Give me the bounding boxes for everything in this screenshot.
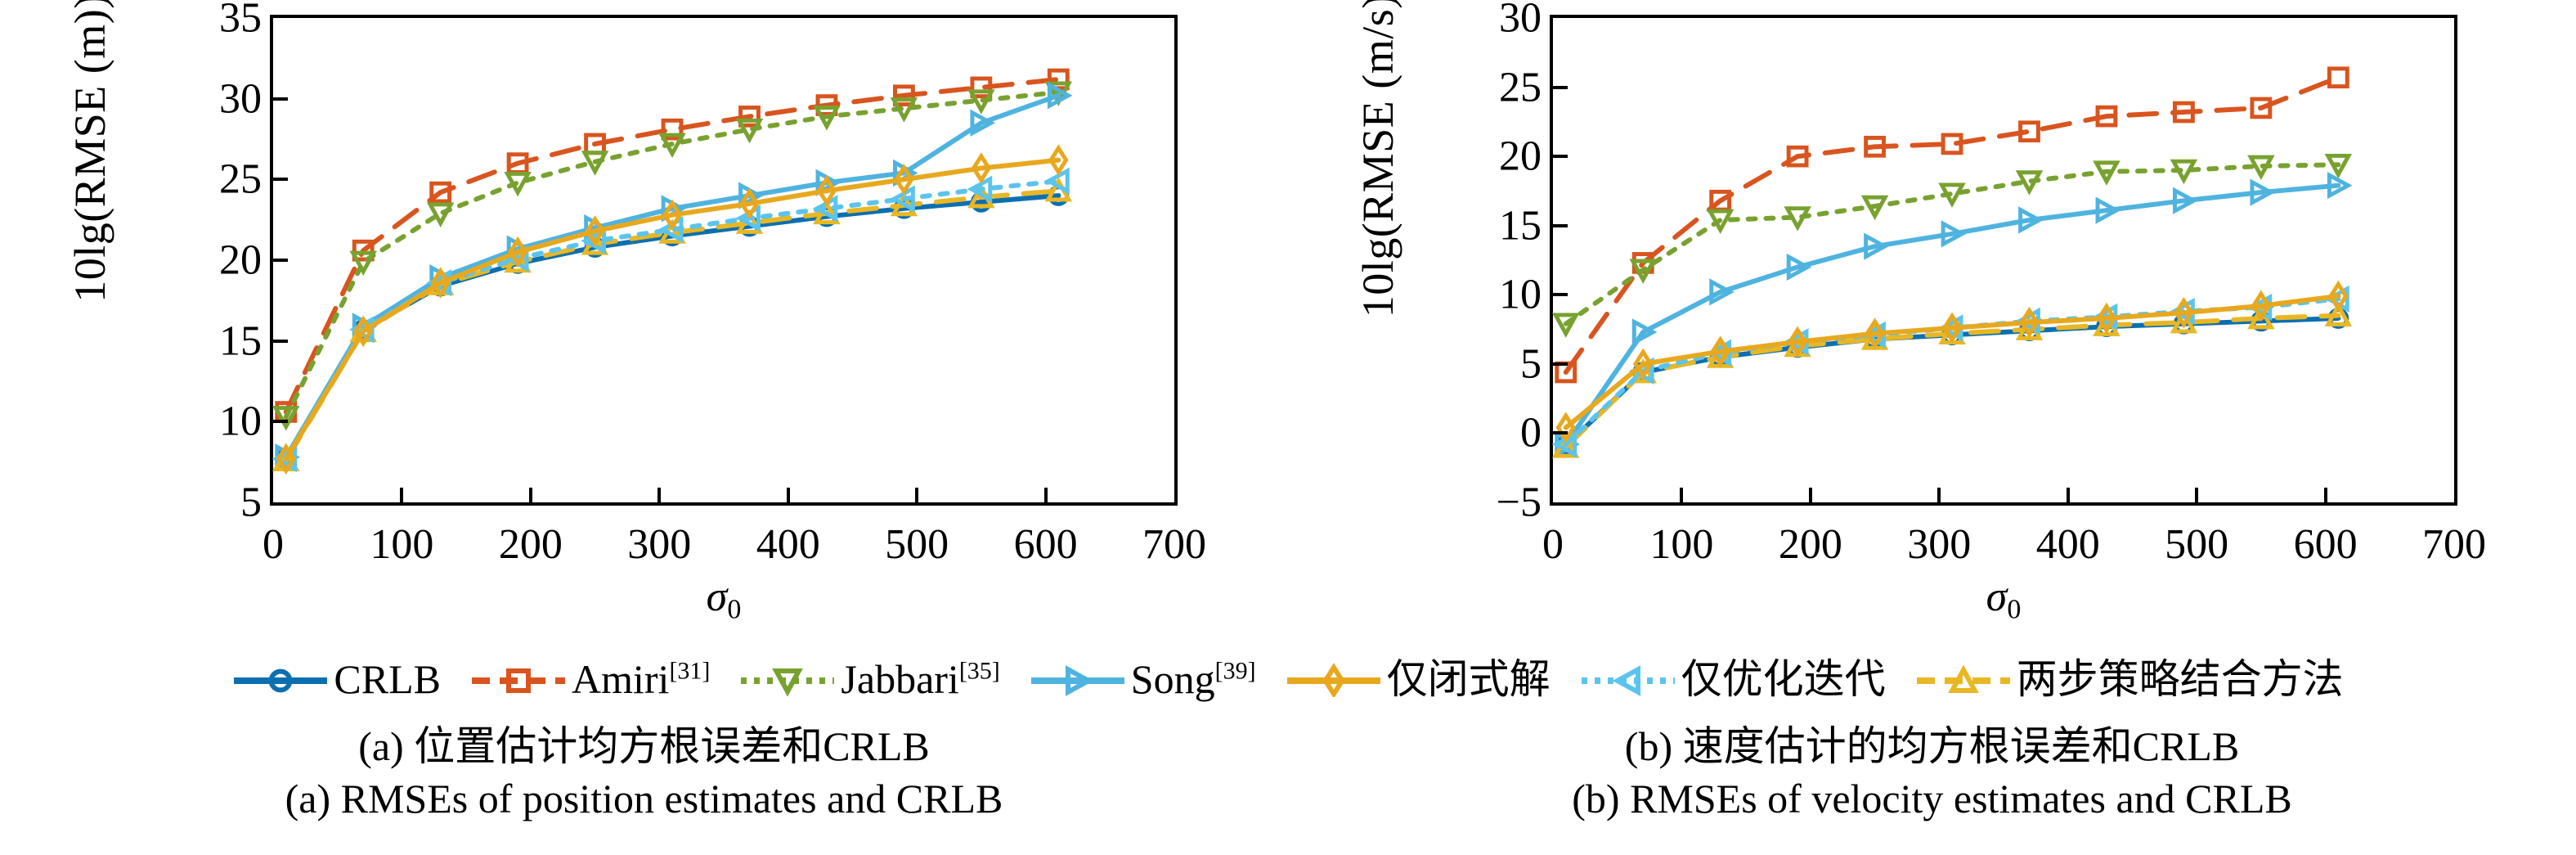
x-tick-label: 300 — [627, 520, 691, 569]
legend-label: Song[39] — [1131, 659, 1256, 700]
x-tick-label: 400 — [756, 520, 820, 569]
data-point-marker — [1788, 209, 1808, 227]
y-tick-label: 15 — [219, 317, 262, 365]
x-tick-label: 300 — [1907, 520, 1971, 569]
x-tick-mark — [787, 488, 790, 502]
x-tick-label: 200 — [1779, 520, 1842, 569]
legend-marker-triangle-left-icon — [1580, 661, 1676, 697]
y-tick-label: 30 — [219, 74, 262, 123]
y-tick-label: 10 — [219, 398, 262, 446]
data-point-marker — [2329, 69, 2347, 87]
data-point-marker — [739, 120, 760, 139]
x-tick-mark — [657, 488, 661, 502]
figure-root: 10lg(RMSE (m)) 5101520253035010020030040… — [0, 0, 2576, 855]
y-tick-label: 20 — [1499, 133, 1542, 181]
x-axis-label-a: σ0 — [707, 573, 742, 626]
legend-label: 两步策略结合方法 — [2017, 659, 2344, 700]
legend-item-1[interactable]: CRLB — [232, 659, 441, 700]
y-tick-mark — [273, 340, 288, 343]
data-point-marker — [894, 100, 914, 119]
panel-a: 10lg(RMSE (m)) 5101520253035010020030040… — [0, 0, 1288, 646]
data-series — [276, 83, 1069, 426]
legend-marker-triangle-down-icon — [739, 661, 836, 697]
y-tick-label: 5 — [1520, 340, 1542, 388]
legend-marker-diamond-icon — [1286, 661, 1382, 697]
x-tick-label: 0 — [1542, 520, 1564, 569]
y-tick-mark — [1553, 86, 1568, 89]
y-axis-label-a: 10lg(RMSE (m)) — [65, 0, 115, 320]
x-tick-mark — [2324, 488, 2327, 502]
legend-item-2[interactable]: Amiri[31] — [470, 659, 710, 700]
x-tick-label: 100 — [370, 520, 433, 569]
caption-a: (a) 位置估计均方根误差和CRLB (a) RMSEs of position… — [0, 720, 1288, 825]
legend-label: CRLB — [334, 659, 441, 700]
caption-b-en: (b) RMSEs of velocity estimates and CRLB — [1288, 772, 2576, 825]
y-tick-mark — [1553, 362, 1568, 366]
x-tick-mark — [1044, 488, 1048, 502]
y-tick-mark — [1553, 224, 1568, 227]
series-canvas-a — [273, 18, 1174, 502]
legend-item-4[interactable]: Song[39] — [1030, 659, 1256, 700]
data-series — [278, 148, 1066, 470]
legend-reference: [39] — [1215, 657, 1256, 684]
caption-b-cn: (b) 速度估计的均方根误差和CRLB — [1288, 720, 2576, 772]
y-tick-label: 5 — [240, 479, 262, 527]
legend-item-6[interactable]: 仅优化迭代 — [1580, 659, 1886, 700]
x-tick-mark — [915, 488, 918, 502]
x-tick-label: 700 — [1142, 520, 1206, 569]
x-tick-label: 200 — [499, 520, 563, 569]
y-tick-mark — [273, 259, 288, 262]
y-tick-mark — [1553, 293, 1568, 296]
legend-marker-triangle-up-icon — [1915, 661, 2012, 697]
plot-area-a: 51015202530350100200300400500600700 — [270, 15, 1178, 506]
y-tick-label: 20 — [219, 236, 262, 285]
x-tick-label: 700 — [2422, 520, 2486, 569]
x-tick-mark — [1937, 488, 1941, 502]
y-tick-label: 25 — [1499, 63, 1542, 111]
x-tick-mark — [2195, 488, 2198, 502]
y-tick-mark — [273, 97, 288, 101]
x-tick-label: 500 — [2165, 520, 2228, 569]
legend-label: 仅优化迭代 — [1681, 659, 1886, 700]
caption-a-en: (a) RMSEs of position estimates and CRLB — [0, 772, 1288, 825]
y-tick-label: 10 — [1499, 271, 1542, 319]
legend-marker-circle-icon — [232, 661, 329, 697]
y-axis-label-b: 10lg(RMSE (m/s)) — [1353, 0, 1403, 320]
y-tick-label: 15 — [1499, 201, 1542, 250]
x-tick-label: 600 — [1014, 520, 1078, 569]
y-tick-mark — [273, 178, 288, 181]
data-point-marker — [2174, 161, 2194, 180]
y-tick-label: 30 — [1499, 0, 1542, 43]
y-tick-label: −5 — [1497, 479, 1542, 527]
plot-area-b: −50510152025300100200300400500600700 — [1550, 15, 2457, 506]
legend-marker-square-icon — [470, 661, 567, 697]
x-tick-mark — [400, 488, 403, 502]
legend-label: 仅闭式解 — [1387, 659, 1551, 700]
legend-reference: [35] — [959, 657, 1000, 684]
legend-label: Amiri[31] — [572, 659, 710, 700]
x-axis-label-b: σ0 — [1986, 573, 2022, 626]
x-tick-mark — [1809, 488, 1812, 502]
legend-item-7[interactable]: 两步策略结合方法 — [1915, 659, 2344, 700]
x-tick-label: 400 — [2036, 520, 2100, 569]
x-tick-label: 600 — [2294, 520, 2358, 569]
legend-reference: [31] — [669, 657, 710, 684]
y-tick-mark — [273, 420, 288, 423]
x-tick-mark — [529, 488, 532, 502]
caption-b: (b) 速度估计的均方根误差和CRLB (b) RMSEs of velocit… — [1288, 720, 2576, 825]
x-tick-label: 100 — [1649, 520, 1713, 569]
series-canvas-b — [1553, 18, 2454, 502]
captions: (a) 位置估计均方根误差和CRLB (a) RMSEs of position… — [0, 720, 2576, 855]
legend-label: Jabbari[35] — [841, 659, 999, 700]
legend-marker-triangle-right-icon — [1030, 661, 1126, 697]
y-tick-label: 25 — [219, 155, 262, 204]
y-tick-mark — [1553, 155, 1568, 158]
legend: CRLBAmiri[31]Jabbari[35]Song[39]仅闭式解仅优化迭… — [0, 650, 2576, 708]
caption-a-cn: (a) 位置估计均方根误差和CRLB — [0, 720, 1288, 772]
y-tick-label: 0 — [1520, 409, 1542, 457]
x-tick-label: 500 — [885, 520, 949, 569]
y-tick-label: 35 — [219, 0, 262, 43]
legend-item-5[interactable]: 仅闭式解 — [1286, 659, 1551, 700]
y-tick-mark — [1553, 431, 1568, 434]
panel-b: 10lg(RMSE (m/s)) −5051015202530010020030… — [1288, 0, 2576, 646]
legend-item-3[interactable]: Jabbari[35] — [739, 659, 999, 700]
x-tick-mark — [1680, 488, 1683, 502]
x-tick-label: 0 — [263, 520, 284, 569]
x-tick-mark — [2067, 488, 2070, 502]
